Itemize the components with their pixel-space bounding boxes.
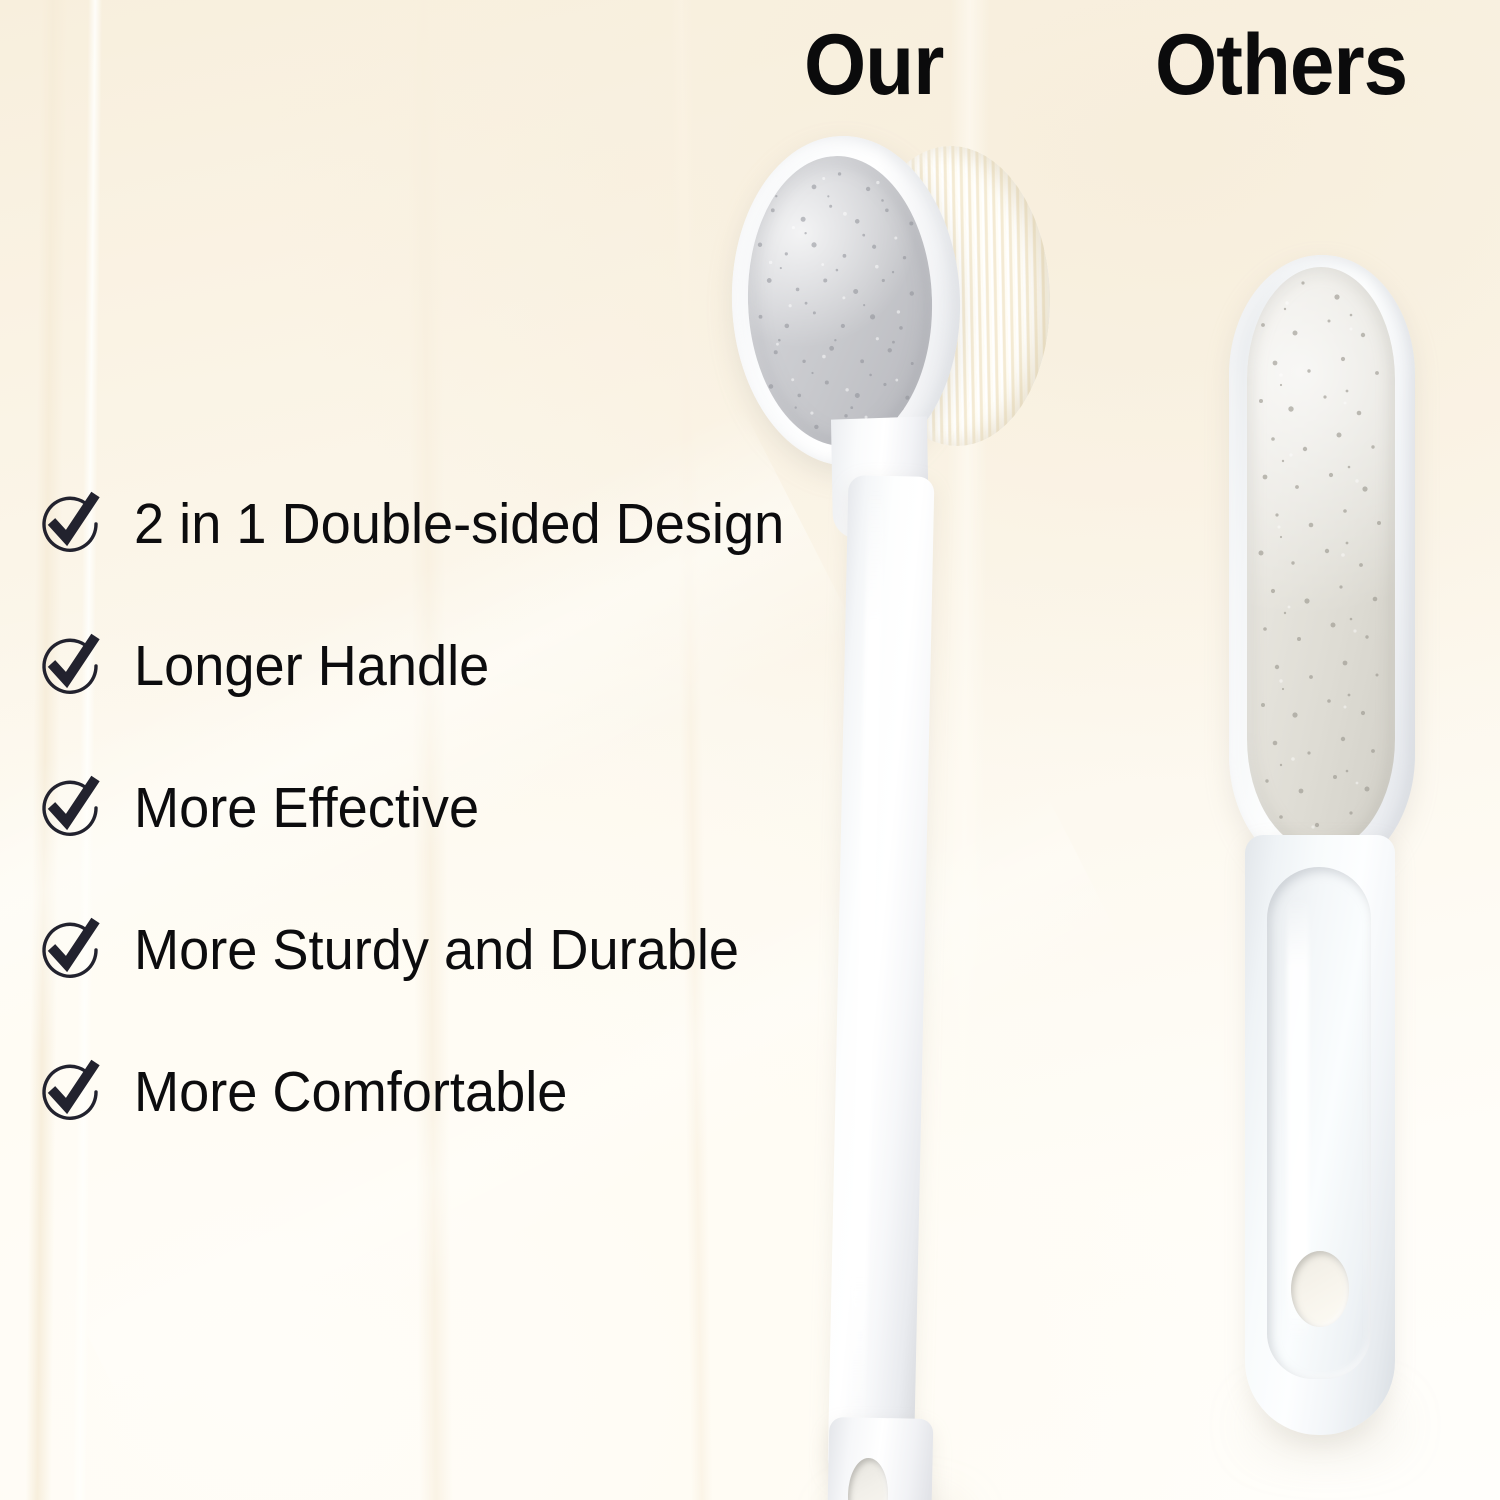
header-others: Others: [1155, 22, 1407, 108]
feature-label: More Comfortable: [134, 1064, 567, 1121]
check-circle-icon: [36, 772, 108, 844]
pumice-stone-pad: [1247, 267, 1395, 851]
check-circle-icon: [36, 488, 108, 560]
product-comparison-infographic: Our Others 2 in 1 Double-sided Design Lo…: [0, 0, 1500, 1500]
foot-file-hanging-hole: [1291, 1251, 1349, 1327]
pumice-texture: [743, 153, 937, 449]
check-circle-icon: [36, 630, 108, 702]
feature-label: 2 in 1 Double-sided Design: [134, 496, 784, 553]
pumice-stone-disc: [743, 153, 937, 449]
feature-label: More Effective: [134, 780, 479, 837]
check-circle-icon: [36, 914, 108, 986]
check-circle-icon: [36, 1056, 108, 1128]
feature-label: More Sturdy and Durable: [134, 922, 739, 979]
feature-label: Longer Handle: [134, 638, 489, 695]
pumice-texture: [1247, 267, 1395, 851]
header-ours: Our: [804, 22, 943, 108]
product-image-others: [1215, 255, 1465, 1435]
product-image-ours: [690, 118, 1070, 1488]
